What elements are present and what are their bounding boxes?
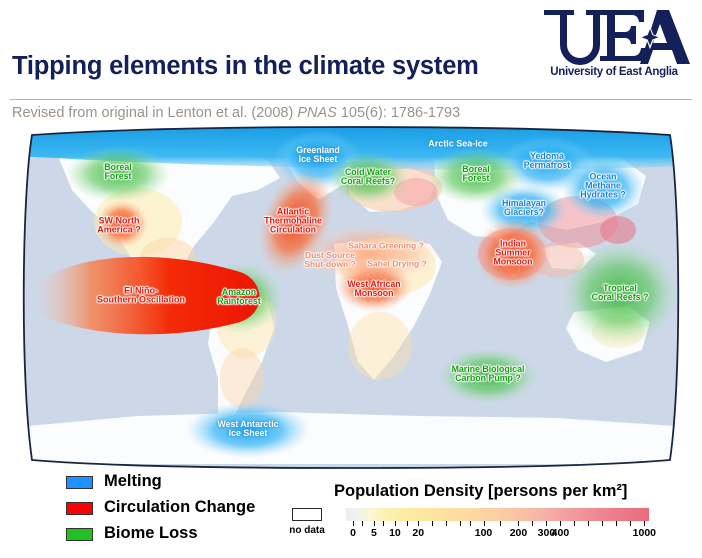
- legend: Melting Circulation Change Biome Loss Po…: [0, 472, 702, 558]
- no-data-label: no data: [283, 525, 331, 536]
- subtitle-pre: Revised from original in Lenton et al. (…: [12, 105, 297, 121]
- colorbar-tick: [407, 521, 408, 526]
- page-subtitle: Revised from original in Lenton et al. (…: [12, 105, 460, 121]
- colorbar-tick: [630, 521, 631, 526]
- map-label-line: Rainforest: [217, 297, 261, 306]
- colorbar-tick: [383, 521, 384, 526]
- map-label-line: Coral Reefs ?: [592, 293, 649, 302]
- map-label-line: Ice Sheet: [217, 429, 278, 438]
- colorbar-tick: [432, 521, 433, 526]
- map-label-line: Circulation: [264, 226, 322, 235]
- legend-label-melting: Melting: [104, 472, 162, 491]
- population-density-colorbar: [346, 508, 649, 521]
- header-divider: [10, 99, 692, 100]
- colorbar-tick: [588, 521, 589, 526]
- map-label-line: Forest: [104, 172, 131, 181]
- colorbar-title: Population Density [persons per km²]: [334, 482, 627, 501]
- colorbar-tick-label: 1000: [633, 527, 656, 539]
- colorbar-tick: [546, 521, 547, 526]
- map-label-line: Southern Oscillation: [97, 296, 185, 305]
- map-label-greenland-ice-sheet[interactable]: GreenlandIce Sheet: [296, 146, 340, 164]
- map-label-atlantic-thermohaline-circulation[interactable]: AtlanticThermohalineCirculation: [264, 207, 322, 234]
- map-label-yedoma-permafrost[interactable]: YedomaPermafrost: [524, 152, 570, 170]
- colorbar-tick: [532, 521, 533, 526]
- map-label-marine-biological-carbon-pump[interactable]: Marine BiologicalCarbon Pump ?: [452, 365, 525, 383]
- legend-swatch-circulation-change: [66, 502, 93, 515]
- map-label-cold-water-coral-reefs[interactable]: Cold WaterCoral Reefs?: [341, 168, 395, 186]
- subtitle-post: 105(6): 1786-1793: [337, 105, 460, 121]
- subtitle-journal: PNAS: [297, 105, 337, 121]
- colorbar-tick-label: 0: [350, 527, 356, 539]
- map-label-line: Carbon Pump ?: [452, 374, 525, 383]
- map-label-sahel-drying[interactable]: Sahel Drying ?: [367, 260, 427, 269]
- colorbar-tick: [574, 521, 575, 526]
- map-label-line: Monsoon: [493, 258, 532, 267]
- colorbar-tick: [418, 521, 419, 526]
- colorbar-tick-label: 100: [475, 527, 493, 539]
- colorbar-tick: [374, 521, 375, 526]
- map-label-line: Hydrates ?: [580, 191, 625, 200]
- colorbar-tick: [460, 521, 461, 526]
- map-label-line: Ice Sheet: [296, 155, 340, 164]
- map-label-line: Forest: [462, 174, 489, 183]
- map-label-boreal-forest-eurasia[interactable]: BorealForest: [462, 165, 489, 183]
- page-header: Tipping elements in the climate system U…: [0, 0, 702, 100]
- map-label-line: America ?: [97, 226, 141, 235]
- colorbar-tick-label: 20: [412, 527, 424, 539]
- map-label-ocean-methane-hydrates[interactable]: OceanMethaneHydrates ?: [580, 172, 625, 199]
- colorbar-tick: [616, 521, 617, 526]
- map-label-tropical-coral-reefs[interactable]: TropicalCoral Reefs ?: [592, 284, 649, 302]
- colorbar-tick: [484, 521, 485, 526]
- map-label-line: Permafrost: [524, 161, 570, 170]
- map-label-arctic-sea-ice[interactable]: Arctic Sea-Ice: [428, 139, 488, 148]
- legend-swatch-biome-loss: [66, 528, 93, 541]
- map-label-boreal-forest-north-america[interactable]: BorealForest: [104, 163, 131, 181]
- colorbar-tick: [470, 521, 471, 526]
- map-label-line: Sahara Greening ?: [348, 242, 424, 251]
- map-label-sahara-greening[interactable]: Sahara Greening ?: [348, 242, 424, 251]
- colorbar-tick-label: 10: [389, 527, 401, 539]
- legend-label-biome-loss: Biome Loss: [104, 524, 198, 543]
- legend-swatch-melting: [66, 476, 93, 489]
- no-data-swatch: [292, 508, 322, 521]
- map-label-west-african-monsoon[interactable]: West AfricanMonsoon: [347, 280, 400, 298]
- colorbar-tick-label: 5: [371, 527, 377, 539]
- colorbar-tick-label: 200: [510, 527, 528, 539]
- colorbar-tick: [560, 521, 561, 526]
- colorbar-tick: [395, 521, 396, 526]
- world-map: Arctic Sea-IceGreenlandIce SheetCold Wat…: [18, 126, 684, 469]
- page-title: Tipping elements in the climate system: [12, 52, 479, 81]
- colorbar-tick: [602, 521, 603, 526]
- map-label-line: Arctic Sea-Ice: [428, 139, 488, 148]
- map-label-line: Shut-down ?: [304, 260, 355, 269]
- map-label-sw-north-america[interactable]: SW NorthAmerica ?: [97, 217, 141, 236]
- map-label-dust-source-shut-down[interactable]: Dust SourceShut-down ?: [304, 251, 355, 269]
- map-label-amazon-rainforest[interactable]: AmazonRainforest: [217, 288, 261, 306]
- uea-logo-subtitle: University of East Anglia: [538, 66, 690, 78]
- colorbar-tick: [362, 521, 363, 526]
- colorbar-tick: [353, 521, 354, 526]
- colorbar-tick: [518, 521, 519, 526]
- map-label-indian-summer-monsoon[interactable]: IndianSummerMonsoon: [493, 239, 532, 266]
- colorbar-tick: [446, 521, 447, 526]
- colorbar-tick: [644, 521, 645, 526]
- map-label-line: Glaciers?: [502, 208, 546, 217]
- map-label-himalayan-glaciers[interactable]: HimalayanGlaciers?: [502, 199, 546, 217]
- colorbar-tick-label: 400: [552, 527, 570, 539]
- map-label-line: Monsoon: [347, 289, 400, 298]
- colorbar-tick: [500, 521, 501, 526]
- legend-label-circulation-change: Circulation Change: [104, 498, 255, 517]
- map-label-line: Coral Reefs?: [341, 177, 395, 186]
- colorbar-tick-labels: 0510201002003004001000: [346, 527, 649, 541]
- map-label-el-nino-southern-oscillation[interactable]: El Niño-Southern Oscillation: [97, 287, 185, 306]
- map-label-west-antarctic-ice-sheet[interactable]: West AntarcticIce Sheet: [217, 420, 278, 438]
- map-label-line: Sahel Drying ?: [367, 260, 427, 269]
